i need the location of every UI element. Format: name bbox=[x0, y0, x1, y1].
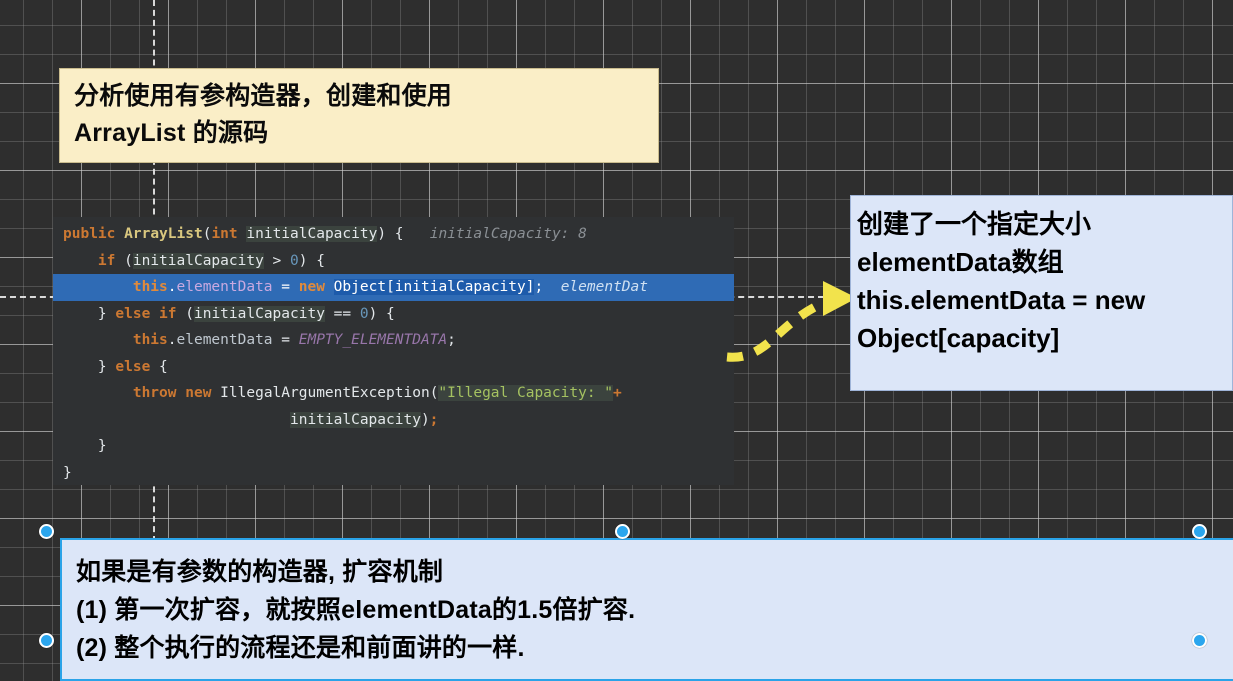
note-bottom-line-2: (1) 第一次扩容，就按照elementData的1.5倍扩容. bbox=[76, 591, 1233, 629]
token-else-4: else bbox=[115, 306, 150, 322]
token-else-6: else bbox=[115, 359, 150, 375]
callout-blue-line-3: this.elementData = new bbox=[857, 281, 1228, 319]
note-title[interactable]: 分析使用有参构造器，创建和使用 ArrayList 的源码 bbox=[59, 68, 659, 163]
note-bottom-line-3: (2) 整个执行的流程还是和前面讲的一样. bbox=[76, 629, 1233, 667]
callout-blue-line-2: elementData数组 bbox=[857, 243, 1228, 281]
code-line-5: this.elementData = EMPTY_ELEMENTDATA; bbox=[53, 327, 734, 354]
code-screenshot[interactable]: public ArrayList(int initialCapacity) { … bbox=[53, 217, 734, 485]
token-elementdata-5: elementData bbox=[177, 332, 273, 348]
token-this: this bbox=[133, 279, 168, 295]
token-illegal-capacity-string: "Illegal Capacity: " bbox=[438, 385, 613, 401]
token-new-7: new bbox=[185, 385, 211, 401]
token-this-5: this bbox=[133, 332, 168, 348]
code-line-2: if (initialCapacity > 0) { bbox=[53, 248, 734, 275]
token-zero-2: 0 bbox=[290, 253, 299, 269]
token-if-4: if bbox=[159, 306, 176, 322]
note-bottom-line-1: 如果是有参数的构造器, 扩容机制 bbox=[76, 553, 1233, 591]
note-title-line-2: ArrayList 的源码 bbox=[74, 115, 644, 152]
handle-middle-left[interactable] bbox=[39, 633, 54, 648]
token-initialcapacity-4: initialCapacity bbox=[194, 306, 325, 322]
handle-top-right[interactable] bbox=[1192, 524, 1207, 539]
token-public: public bbox=[63, 226, 115, 242]
handle-top-left[interactable] bbox=[39, 524, 54, 539]
whiteboard-canvas[interactable]: 分析使用有参构造器，创建和使用 ArrayList 的源码 public Arr… bbox=[0, 0, 1233, 681]
code-line-9: } bbox=[53, 433, 734, 460]
token-if: if bbox=[98, 253, 115, 269]
token-elementdata: elementData bbox=[177, 279, 273, 295]
token-initialcapacity-2: initialCapacity bbox=[133, 253, 264, 269]
note-bottom-selected[interactable]: 如果是有参数的构造器, 扩容机制 (1) 第一次扩容，就按照elementDat… bbox=[60, 538, 1233, 681]
token-zero-4: 0 bbox=[360, 306, 369, 322]
code-line-4: } else if (initialCapacity == 0) { bbox=[53, 301, 734, 328]
code-line-10: } bbox=[53, 460, 734, 486]
code-line-6: } else { bbox=[53, 354, 734, 381]
token-new: new bbox=[299, 279, 325, 295]
token-empty-elementdata: EMPTY_ELEMENTDATA bbox=[299, 332, 447, 348]
token-arraylist: ArrayList bbox=[124, 226, 203, 242]
callout-blue-line-1: 创建了一个指定大小 bbox=[857, 205, 1228, 243]
callout-blue[interactable]: 创建了一个指定大小 elementData数组 this.elementData… bbox=[850, 195, 1233, 391]
inlay-hint-elementdata: elementDat bbox=[561, 279, 648, 295]
callout-blue-line-4: Object[capacity] bbox=[857, 319, 1228, 357]
token-object: Object bbox=[334, 279, 386, 295]
code-line-7: throw new IllegalArgumentException("Ille… bbox=[53, 380, 734, 407]
token-int: int bbox=[211, 226, 237, 242]
token-illegalargumentexception: IllegalArgumentException bbox=[220, 385, 430, 401]
handle-top-center[interactable] bbox=[615, 524, 630, 539]
inlay-hint-initialcapacity: initialCapacity: 8 bbox=[430, 226, 587, 242]
token-initialcapacity-3: initialCapacity bbox=[395, 279, 526, 295]
dashed-arrow-icon bbox=[725, 275, 865, 375]
token-initialcapacity-8: initialCapacity bbox=[290, 412, 421, 428]
code-line-1: public ArrayList(int initialCapacity) { … bbox=[53, 221, 734, 248]
token-throw: throw bbox=[133, 385, 177, 401]
code-line-3-highlighted: this.elementData = new Object[initialCap… bbox=[53, 274, 734, 301]
code-line-8: initialCapacity); bbox=[53, 407, 734, 434]
token-param-initialcapacity: initialCapacity bbox=[246, 226, 377, 242]
handle-middle-right[interactable] bbox=[1192, 633, 1207, 648]
note-title-line-1: 分析使用有参构造器，创建和使用 bbox=[74, 78, 644, 115]
